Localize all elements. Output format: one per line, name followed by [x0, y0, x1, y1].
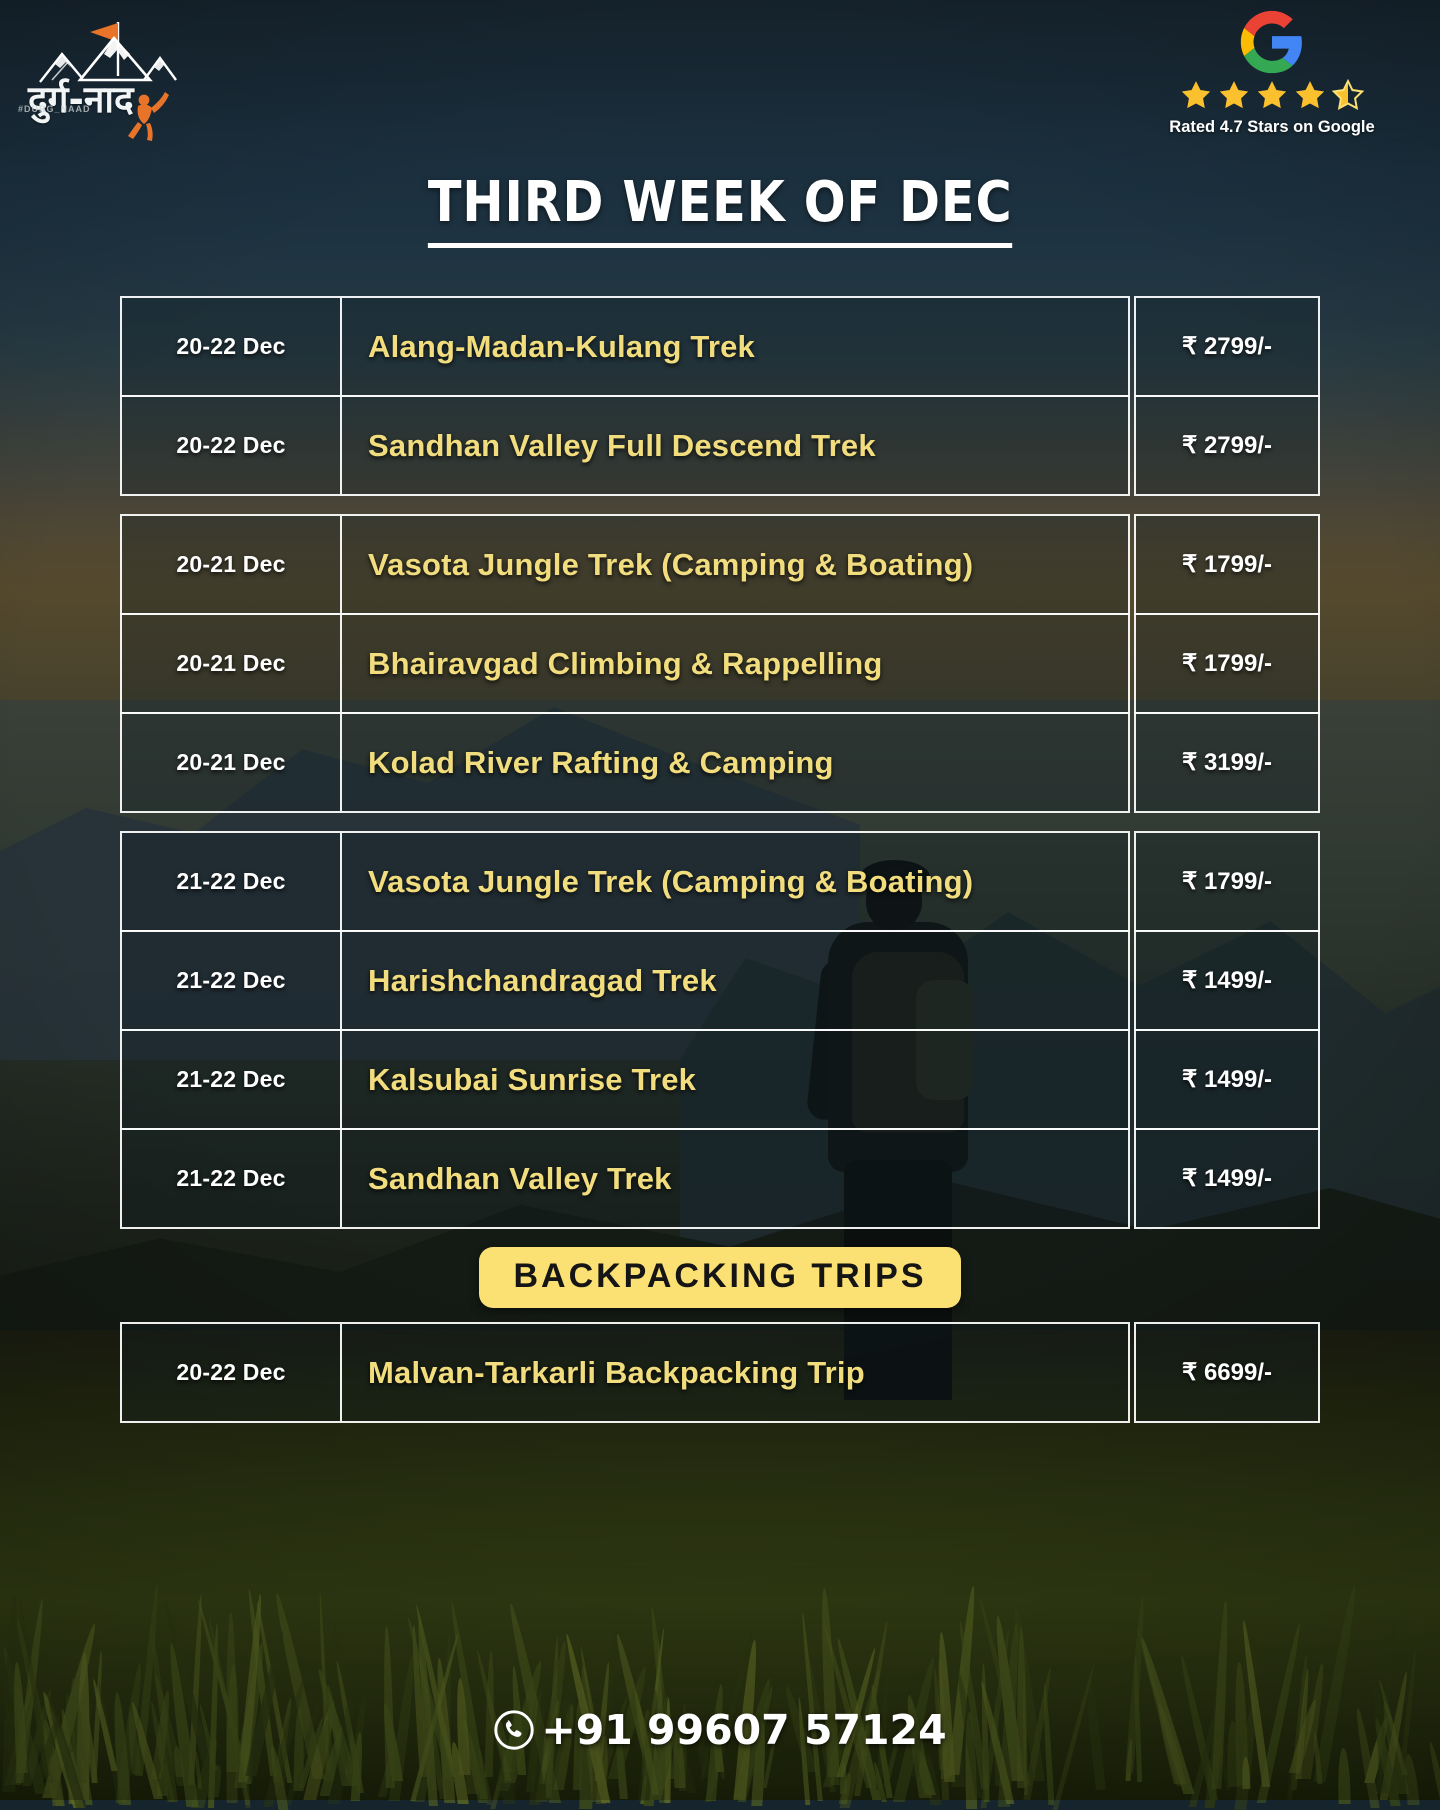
cell-trek-name: Sandhan Valley Trek [342, 1130, 1128, 1227]
star-icon-full [1293, 78, 1327, 112]
cell-date: 20-21 Dec [122, 516, 342, 613]
cell-date: 21-22 Dec [122, 1031, 342, 1128]
table-row-main: 21-22 DecKalsubai Sunrise Trek [120, 1029, 1130, 1130]
cell-trek-name: Vasota Jungle Trek (Camping & Boating) [342, 516, 1128, 613]
table-row[interactable]: 20-21 DecBhairavgad Climbing & Rappellin… [120, 613, 1320, 714]
cell-price: ₹ 6699/- [1134, 1322, 1320, 1423]
star-icon-half [1331, 78, 1365, 112]
table-row[interactable]: 21-22 DecVasota Jungle Trek (Camping & B… [120, 831, 1320, 932]
table-row[interactable]: 21-22 DecKalsubai Sunrise Trek₹ 1499/- [120, 1029, 1320, 1130]
table-row[interactable]: 21-22 DecHarishchandragad Trek₹ 1499/- [120, 930, 1320, 1031]
star-icon-full [1179, 78, 1213, 112]
cell-price: ₹ 1499/- [1134, 1029, 1320, 1130]
table-row-main: 21-22 DecSandhan Valley Trek [120, 1128, 1130, 1229]
table-row[interactable]: 20-21 DecKolad River Rafting & Camping₹ … [120, 712, 1320, 813]
cell-date: 20-21 Dec [122, 615, 342, 712]
backpacking-badge-wrap: BACKPACKING TRIPS [0, 1247, 1440, 1308]
cell-price: ₹ 2799/- [1134, 395, 1320, 496]
page-title-wrap: THIRD WEEK OF DEC [0, 170, 1440, 248]
schedule-sheet: 20-22 DecAlang-Madan-Kulang Trek₹ 2799/-… [0, 296, 1440, 1441]
cell-trek-name: Kolad River Rafting & Camping [342, 714, 1128, 811]
cell-trek-name: Malvan-Tarkarli Backpacking Trip [342, 1324, 1128, 1421]
star-rating-icon [1122, 78, 1422, 112]
rating-label: Rated 4.7 Stars on Google [1122, 118, 1422, 137]
cell-trek-name: Vasota Jungle Trek (Camping & Boating) [342, 833, 1128, 930]
cell-date: 20-22 Dec [122, 397, 342, 494]
phone-number: +91 99607 57124 [541, 1706, 946, 1754]
table-group-backpacking: 20-22 DecMalvan-Tarkarli Backpacking Tri… [120, 1322, 1320, 1423]
table-row-main: 20-21 DecVasota Jungle Trek (Camping & B… [120, 514, 1130, 615]
cell-date: 21-22 Dec [122, 833, 342, 930]
phone-in-circle-icon [493, 1709, 535, 1751]
star-icon-full [1217, 78, 1251, 112]
google-g-icon [1238, 8, 1306, 76]
cell-trek-name: Harishchandragad Trek [342, 932, 1128, 1029]
google-rating-block: Rated 4.7 Stars on Google [1122, 8, 1422, 137]
cell-date: 20-22 Dec [122, 298, 342, 395]
logo-devanagari-text: दुर्ग-नाद [28, 72, 134, 123]
table-group: 20-22 DecAlang-Madan-Kulang Trek₹ 2799/-… [120, 296, 1320, 496]
star-icon-full [1255, 78, 1289, 112]
cell-price: ₹ 1499/- [1134, 1128, 1320, 1229]
table-row[interactable]: 20-22 DecSandhan Valley Full Descend Tre… [120, 395, 1320, 496]
table-row-main: 20-21 DecKolad River Rafting & Camping [120, 712, 1130, 813]
table-row-main: 21-22 DecVasota Jungle Trek (Camping & B… [120, 831, 1130, 932]
table-row[interactable]: 20-21 DecVasota Jungle Trek (Camping & B… [120, 514, 1320, 615]
cell-trek-name: Bhairavgad Climbing & Rappelling [342, 615, 1128, 712]
cell-price: ₹ 2799/- [1134, 296, 1320, 397]
table-row[interactable]: 20-22 DecAlang-Madan-Kulang Trek₹ 2799/- [120, 296, 1320, 397]
cell-date: 21-22 Dec [122, 932, 342, 1029]
cell-trek-name: Alang-Madan-Kulang Trek [342, 298, 1128, 395]
table-row-main: 20-22 DecSandhan Valley Full Descend Tre… [120, 395, 1130, 496]
table-row[interactable]: 21-22 DecSandhan Valley Trek₹ 1499/- [120, 1128, 1320, 1229]
cell-price: ₹ 3199/- [1134, 712, 1320, 813]
cell-trek-name: Kalsubai Sunrise Trek [342, 1031, 1128, 1128]
table-group: 20-21 DecVasota Jungle Trek (Camping & B… [120, 514, 1320, 813]
brand-logo: दुर्ग-नाद [18, 14, 178, 144]
cell-date: 20-22 Dec [122, 1324, 342, 1421]
page-title: THIRD WEEK OF DEC [428, 170, 1013, 248]
contact-footer[interactable]: +91 99607 57124 [0, 1706, 1440, 1754]
backpacking-badge: BACKPACKING TRIPS [479, 1247, 960, 1308]
cell-date: 21-22 Dec [122, 1130, 342, 1227]
cell-price: ₹ 1799/- [1134, 613, 1320, 714]
cell-date: 20-21 Dec [122, 714, 342, 811]
cell-trek-name: Sandhan Valley Full Descend Trek [342, 397, 1128, 494]
logo-handle: #DURG_NAAD [18, 104, 91, 114]
table-row-main: 20-21 DecBhairavgad Climbing & Rappellin… [120, 613, 1130, 714]
cell-price: ₹ 1799/- [1134, 831, 1320, 932]
cell-price: ₹ 1499/- [1134, 930, 1320, 1031]
table-row-main: 20-22 DecAlang-Madan-Kulang Trek [120, 296, 1130, 397]
table-row-main: 20-22 DecMalvan-Tarkarli Backpacking Tri… [120, 1322, 1130, 1423]
cell-price: ₹ 1799/- [1134, 514, 1320, 615]
table-row[interactable]: 20-22 DecMalvan-Tarkarli Backpacking Tri… [120, 1322, 1320, 1423]
table-group: 21-22 DecVasota Jungle Trek (Camping & B… [120, 831, 1320, 1229]
table-row-main: 21-22 DecHarishchandragad Trek [120, 930, 1130, 1031]
